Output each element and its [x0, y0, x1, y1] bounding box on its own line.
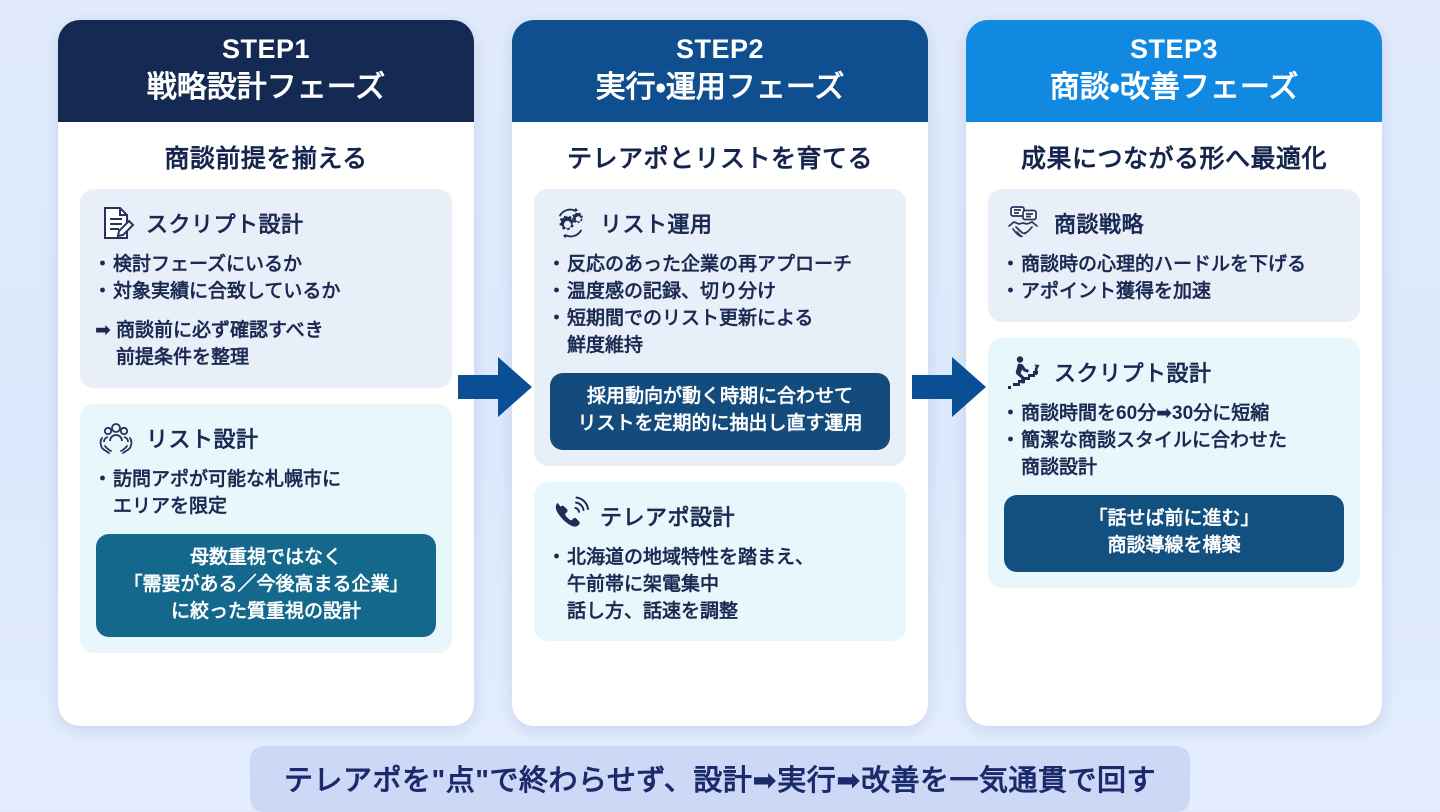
list-item: アポイント獲得を加速	[1004, 279, 1344, 306]
bullet-list: 商談時間を60分➡30分に短縮 簡潔な商談スタイルに合わせた 商談設計	[1004, 401, 1344, 482]
step3-step-label: STEP3	[976, 33, 1372, 67]
list-item: 訪問アポが可能な札幌市に エリアを限定	[96, 467, 436, 521]
step-card-1: STEP1 戦略設計フェーズ 商談前提を揃える	[58, 20, 474, 726]
step2-step-label: STEP2	[522, 33, 918, 67]
block-header: 商談戦略	[1004, 203, 1344, 243]
block-title: スクリプト設計	[1054, 356, 1212, 388]
document-pencil-icon	[96, 203, 136, 243]
step3-header: STEP3 商談・改善フェーズ	[966, 20, 1382, 122]
step3-block-script-design: スクリプト設計 商談時間を60分➡30分に短縮 簡潔な商談スタイルに合わせた 商…	[988, 338, 1360, 588]
step2-subtitle: テレアポとリストを育てる	[512, 122, 928, 189]
step1-body: スクリプト設計 検討フェーズにいるか 対象実績に合致しているか 商談前に必ず確認…	[58, 189, 474, 674]
arrow-step1-to-step2	[458, 355, 532, 419]
step3-script-callout: 「話せば前に進む」 商談導線を構築	[1004, 495, 1344, 572]
list-item: 北海道の地域特性を踏まえ、 午前帯に架電集中 話し方、話速を調整	[550, 545, 890, 626]
step-card-3: STEP3 商談・改善フェーズ 成果につながる形へ最適化	[966, 20, 1382, 726]
bullet-list: 反応のあった企業の再アプローチ 温度感の記録、切り分け 短期間でのリスト更新によ…	[550, 252, 890, 360]
step3-body: 商談戦略 商談時の心理的ハードルを下げる アポイント獲得を加速	[966, 189, 1382, 608]
step-card-2: STEP2 実行・運用フェーズ テレアポとリストを育てる	[512, 20, 928, 726]
block-header: リスト設計	[96, 418, 436, 458]
step1-subtitle: 商談前提を揃える	[58, 122, 474, 189]
list-item: 商談時間を60分➡30分に短縮	[1004, 401, 1344, 428]
stairs-growth-icon	[1004, 352, 1044, 392]
block-title: 商談戦略	[1054, 207, 1144, 239]
block-title: スクリプト設計	[146, 207, 304, 239]
list-item: 商談時の心理的ハードルを下げる	[1004, 252, 1344, 279]
bullet-list: 北海道の地域特性を踏まえ、 午前帯に架電集中 話し方、話速を調整	[550, 545, 890, 626]
step2-header: STEP2 実行・運用フェーズ	[512, 20, 928, 122]
step1-phase-label: 戦略設計フェーズ	[68, 68, 464, 107]
bullet-list: 訪問アポが可能な札幌市に エリアを限定	[96, 467, 436, 521]
step2-block-list-operation: リスト運用 反応のあった企業の再アプローチ 温度感の記録、切り分け 短期間でのリ…	[534, 189, 906, 466]
steps-container: STEP1 戦略設計フェーズ 商談前提を揃える	[0, 20, 1440, 726]
step1-block-script-design: スクリプト設計 検討フェーズにいるか 対象実績に合致しているか 商談前に必ず確認…	[80, 189, 452, 388]
step1-header: STEP1 戦略設計フェーズ	[58, 20, 474, 122]
summary-banner: テレアポを"点"で終わらせず、設計➡実行➡改善を一気通貫で回す	[250, 746, 1190, 812]
arrow-step2-to-step3	[912, 355, 986, 419]
block-title: リスト設計	[146, 422, 259, 454]
step1-step-label: STEP1	[68, 33, 464, 67]
block-header: スクリプト設計	[96, 203, 436, 243]
handshake-chat-icon	[1004, 203, 1044, 243]
step2-phase-label: 実行・運用フェーズ	[522, 68, 918, 107]
list-item: 検討フェーズにいるか	[96, 252, 436, 279]
bullet-list: 商談時の心理的ハードルを下げる アポイント獲得を加速	[1004, 252, 1344, 306]
list-item: 短期間でのリスト更新による 鮮度維持	[550, 306, 890, 360]
bullet-list: 検討フェーズにいるか 対象実績に合致しているか	[96, 252, 436, 306]
step3-subtitle: 成果につながる形へ最適化	[966, 122, 1382, 189]
step1-block-list-design: リスト設計 訪問アポが可能な札幌市に エリアを限定 母数重視ではなく 「需要があ…	[80, 404, 452, 654]
block-header: スクリプト設計	[1004, 352, 1344, 392]
step2-body: リスト運用 反応のあった企業の再アプローチ 温度感の記録、切り分け 短期間でのリ…	[512, 189, 928, 662]
gears-cycle-icon	[550, 203, 590, 243]
step2-list-callout: 採用動向が動く時期に合わせて リストを定期的に抽出し直す運用	[550, 373, 890, 450]
step1-script-note: 商談前に必ず確認すべき 前提条件を整理	[96, 318, 436, 372]
list-item: 反応のあった企業の再アプローチ	[550, 252, 890, 279]
diagram-canvas: STEP1 戦略設計フェーズ 商談前提を揃える	[0, 0, 1440, 810]
step1-list-callout: 母数重視ではなく 「需要がある／今後高まる企業」 に絞った質重視の設計	[96, 534, 436, 638]
block-title: リスト運用	[600, 207, 713, 239]
list-item: 簡潔な商談スタイルに合わせた 商談設計	[1004, 428, 1344, 482]
block-header: テレアポ設計	[550, 496, 890, 536]
block-title: テレアポ設計	[600, 500, 735, 532]
block-header: リスト運用	[550, 203, 890, 243]
list-item: 温度感の記録、切り分け	[550, 279, 890, 306]
step3-phase-label: 商談・改善フェーズ	[976, 68, 1372, 107]
step3-block-negotiation-strategy: 商談戦略 商談時の心理的ハードルを下げる アポイント獲得を加速	[988, 189, 1360, 322]
phone-ringing-icon	[550, 496, 590, 536]
hands-people-icon	[96, 418, 136, 458]
step2-block-telemarketing-design: テレアポ設計 北海道の地域特性を踏まえ、 午前帯に架電集中 話し方、話速を調整	[534, 482, 906, 642]
list-item: 対象実績に合致しているか	[96, 279, 436, 306]
